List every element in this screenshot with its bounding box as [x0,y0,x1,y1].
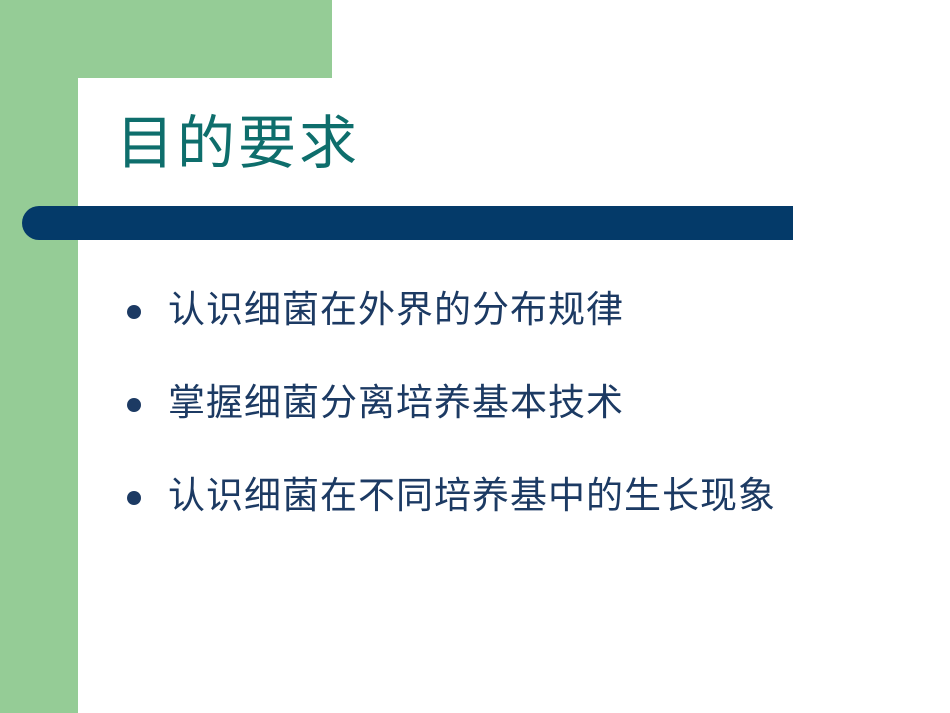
presentation-slide: 目的要求 认识细菌在外界的分布规律 掌握细菌分离培养基本技术 认识细菌在不同培养… [0,0,950,713]
slide-title: 目的要求 [116,108,360,180]
list-item-label: 掌握细菌分离培养基本技术 [168,376,624,432]
objectives-bullet-list: 认识细菌在外界的分布规律 掌握细菌分离培养基本技术 认识细菌在不同培养基中的生长… [120,283,920,562]
title-underline-bar-decoration [22,206,793,240]
green-left-column-decoration [0,0,78,713]
filled-circle-bullet-icon [127,305,141,319]
list-item-label: 认识细菌在不同培养基中的生长现象 [168,469,776,525]
list-item-label: 认识细菌在外界的分布规律 [168,283,624,339]
filled-circle-bullet-icon [127,491,141,505]
list-item: 认识细菌在不同培养基中的生长现象 [120,469,920,562]
list-item: 掌握细菌分离培养基本技术 [120,376,920,469]
list-item: 认识细菌在外界的分布规律 [120,283,920,376]
filled-circle-bullet-icon [127,398,141,412]
